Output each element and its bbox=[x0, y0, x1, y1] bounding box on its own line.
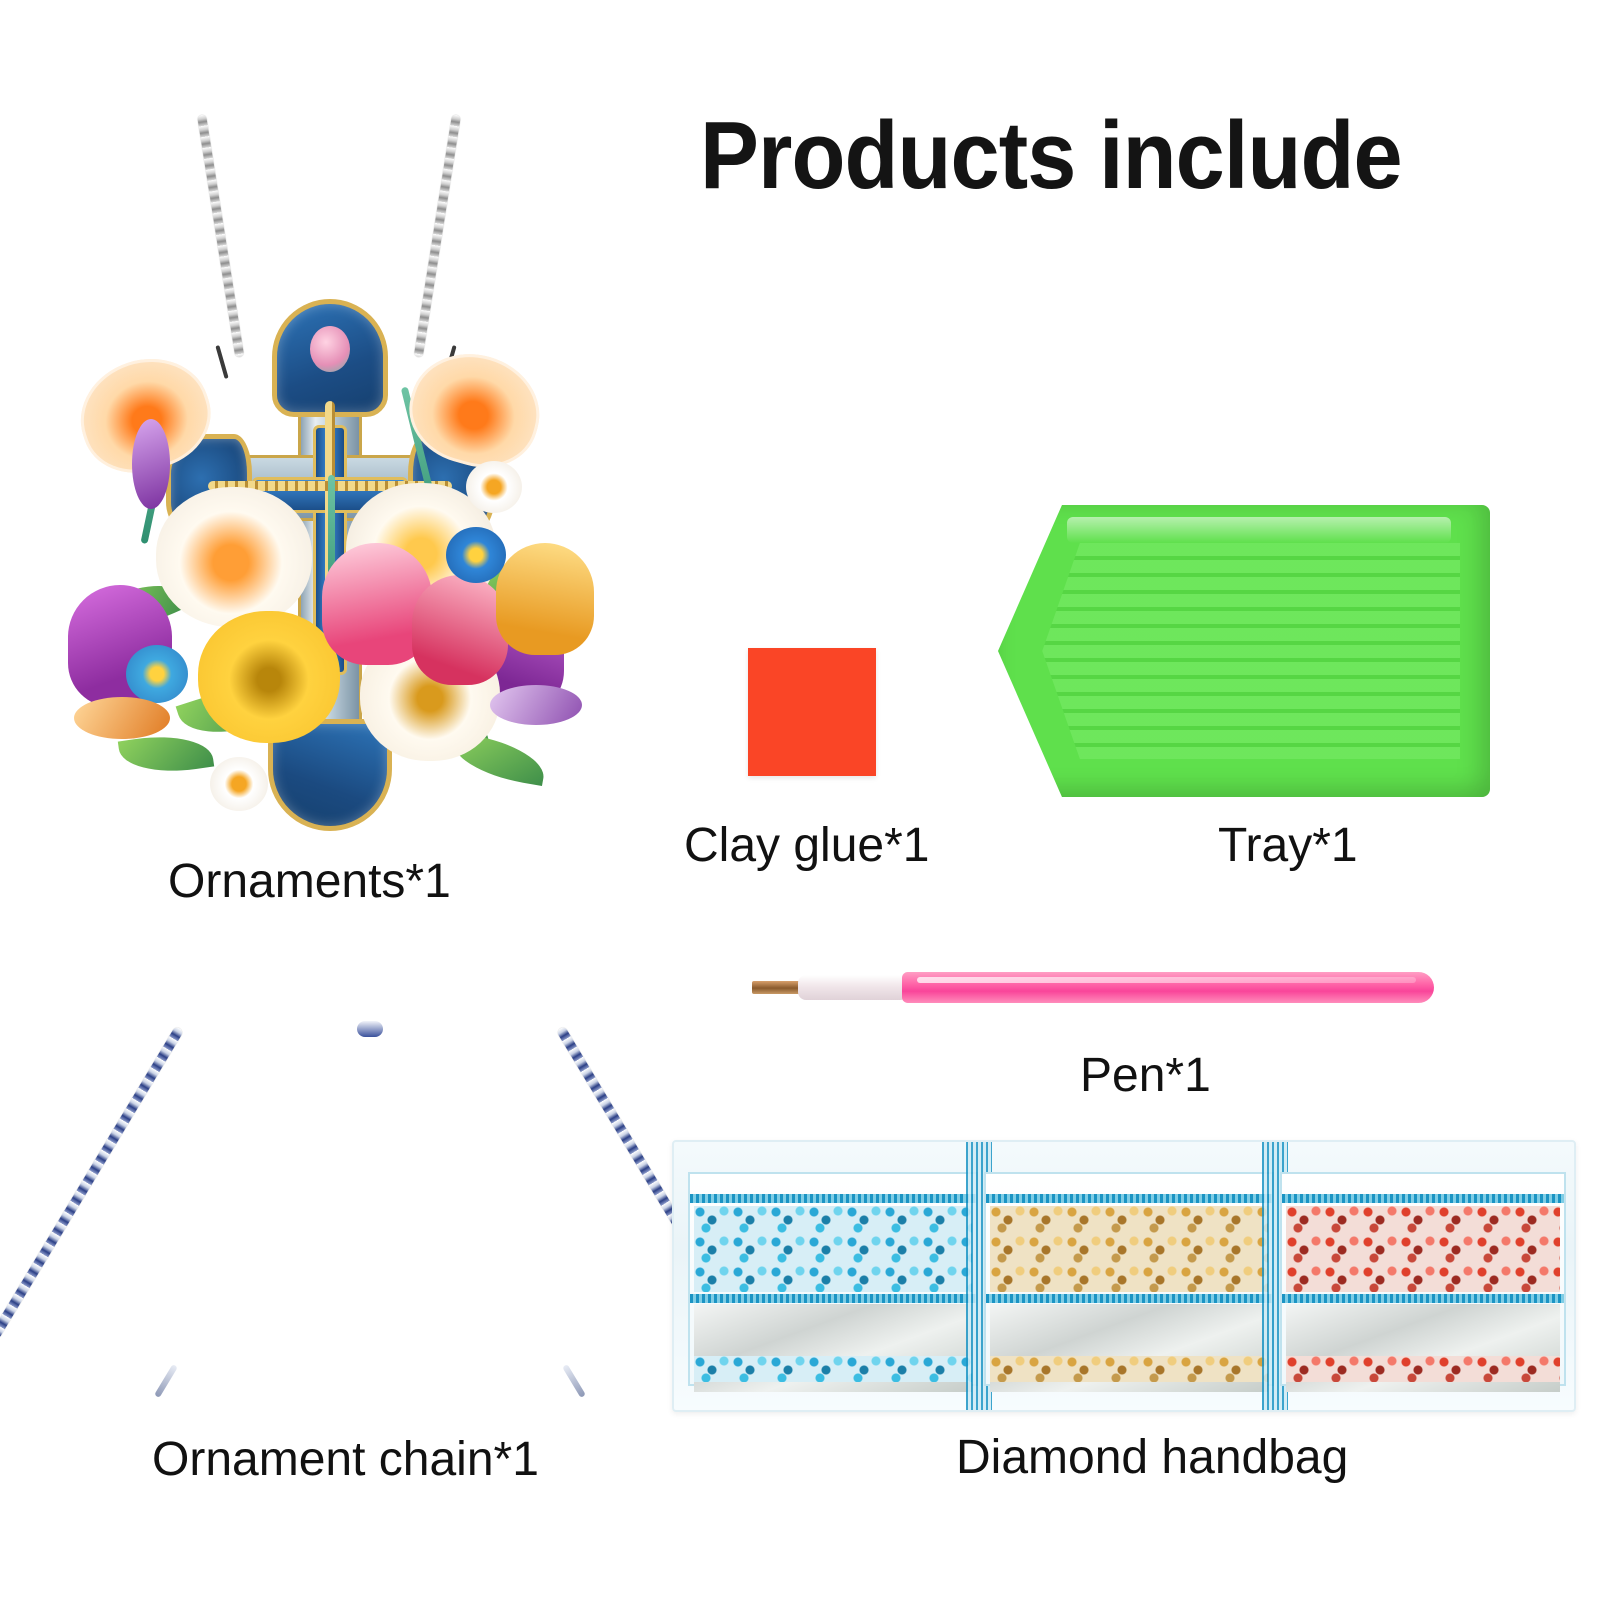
flower-daisy-white bbox=[210, 757, 268, 811]
flower-bud bbox=[490, 685, 582, 725]
pouch-zip-mid bbox=[986, 1294, 1272, 1303]
gem-fill-red bbox=[1286, 1206, 1560, 1292]
ornament-image bbox=[60, 95, 600, 835]
flower-bud bbox=[74, 697, 170, 739]
gem-fill-blue bbox=[694, 1206, 972, 1292]
flower-forget-me-not-blue bbox=[126, 645, 188, 703]
chain-segment-left bbox=[0, 1026, 184, 1340]
cross-top-finial bbox=[272, 299, 388, 417]
product-include-infographic: Products include bbox=[0, 0, 1600, 1600]
pouch-zip-mid bbox=[1282, 1294, 1564, 1303]
pen-ferrule bbox=[798, 975, 908, 1000]
pouch-zip-top bbox=[1282, 1194, 1564, 1203]
tray-label: Tray*1 bbox=[1218, 818, 1358, 873]
flower-bud bbox=[132, 419, 170, 509]
tray-body bbox=[998, 505, 1490, 797]
gem-pouch bbox=[688, 1172, 978, 1386]
flower-tulip-pink bbox=[412, 575, 508, 685]
gem-fill-red-bottom bbox=[1286, 1356, 1560, 1382]
diamond-bag-icon bbox=[672, 1140, 1576, 1412]
gem-pouch bbox=[1280, 1172, 1566, 1386]
tray-grooves bbox=[1042, 543, 1460, 759]
pen-icon bbox=[752, 968, 1434, 1008]
pouch-zip-top bbox=[986, 1194, 1272, 1203]
gem-fill-gold-bottom bbox=[990, 1356, 1268, 1382]
pen-label: Pen*1 bbox=[1080, 1048, 1211, 1103]
gem-pouch bbox=[984, 1172, 1274, 1386]
tray-highlight bbox=[1067, 517, 1451, 543]
flower-daisy-white bbox=[466, 461, 522, 513]
chain-apex bbox=[357, 1021, 383, 1037]
chain-icon bbox=[140, 995, 600, 1395]
pen-metal-tip bbox=[752, 981, 804, 994]
chain-end-cap-right bbox=[562, 1364, 586, 1398]
ornaments-label: Ornaments*1 bbox=[168, 854, 451, 909]
chain-end-cap-left bbox=[154, 1364, 178, 1398]
flower-forget-me-not-blue bbox=[446, 527, 506, 583]
page-title: Products include bbox=[700, 108, 1510, 204]
gem-fill-blue-bottom bbox=[694, 1356, 972, 1382]
pen-highlight bbox=[917, 977, 1416, 983]
flower-lily-white bbox=[156, 487, 312, 627]
flower-tulip-yellow bbox=[496, 543, 594, 655]
flower-daffodil-yellow bbox=[198, 611, 340, 743]
tray-icon bbox=[998, 505, 1490, 797]
diamond-handbag-label: Diamond handbag bbox=[956, 1430, 1348, 1485]
ornament-chain-label: Ornament chain*1 bbox=[152, 1432, 539, 1487]
clay-glue-icon bbox=[748, 648, 876, 776]
clay-glue-label: Clay glue*1 bbox=[684, 818, 929, 873]
gem-fill-gold bbox=[990, 1206, 1268, 1292]
pouch-zip-mid bbox=[690, 1294, 976, 1303]
flower-cluster bbox=[60, 435, 600, 855]
pouch-zip-top bbox=[690, 1194, 976, 1203]
